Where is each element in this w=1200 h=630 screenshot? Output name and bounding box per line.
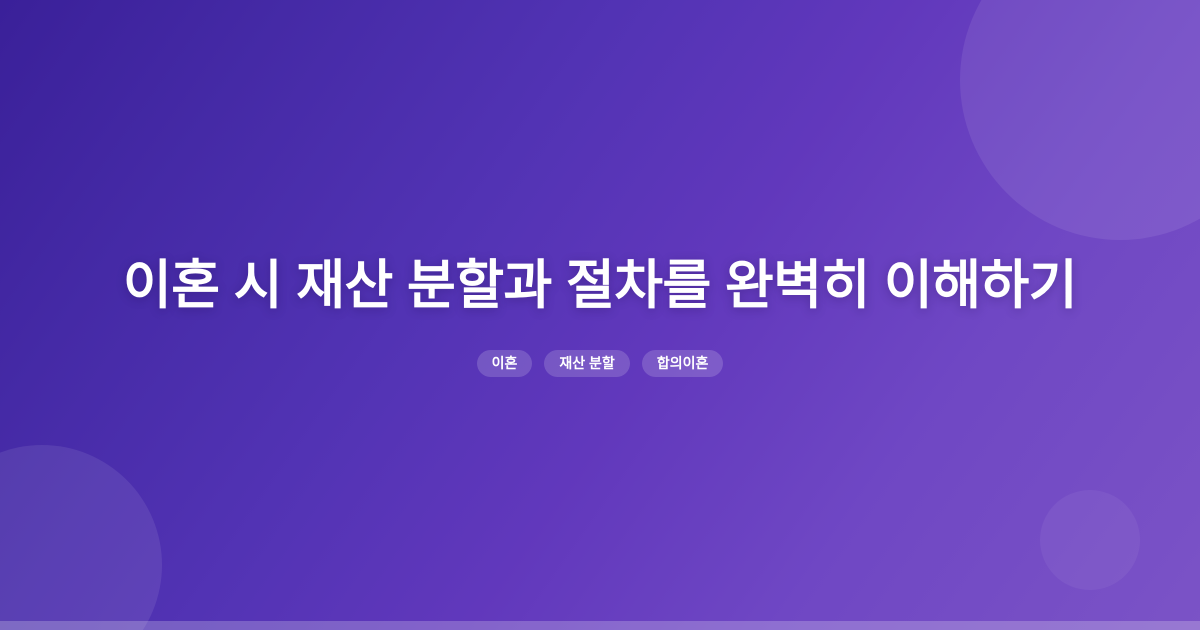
tag-list: 이혼 재산 분할 합의이혼 xyxy=(477,350,724,377)
card-content: 이혼 시 재산 분할과 절차를 완벽히 이해하기 이혼 재산 분할 합의이혼 xyxy=(0,0,1200,630)
tag-chip[interactable]: 재산 분할 xyxy=(544,350,629,377)
tag-chip[interactable]: 이혼 xyxy=(477,350,533,377)
page-title: 이혼 시 재산 분할과 절차를 완벽히 이해하기 xyxy=(53,253,1147,319)
tag-chip[interactable]: 합의이혼 xyxy=(642,350,724,377)
og-share-card: 이혼 시 재산 분할과 절차를 완벽히 이해하기 이혼 재산 분할 합의이혼 xyxy=(0,0,1200,630)
